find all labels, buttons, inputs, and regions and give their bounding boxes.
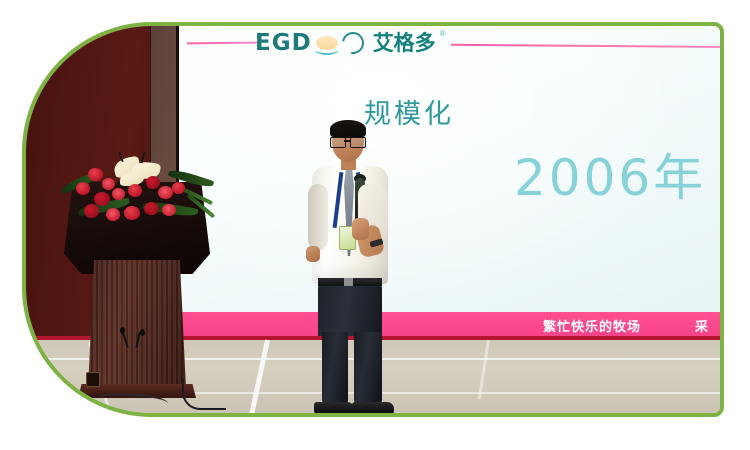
red-gerbera: [158, 186, 173, 199]
decorative-photo-frame: EGD 艾格多 ® 规模化 2006年 繁忙快乐的牧场 采: [22, 22, 724, 417]
presenter-left-hand: [306, 246, 320, 262]
logo-ring-icon: [337, 28, 368, 59]
logo-oval-icon: [316, 36, 338, 50]
presenter-leg: [354, 332, 382, 404]
belt-buckle: [344, 278, 353, 286]
presenter-left-arm: [308, 184, 328, 250]
presenter: [300, 118, 410, 417]
red-gerbera: [124, 206, 140, 220]
red-gerbera: [128, 184, 142, 197]
presenter-shoe: [314, 402, 354, 414]
podium-knob: [86, 372, 100, 387]
presenter-hair: [330, 120, 366, 138]
podium-body: [86, 260, 188, 388]
podium-microphone-tip: [140, 329, 145, 336]
presenter-leg: [322, 332, 348, 404]
presentation-photograph: EGD 艾格多 ® 规模化 2006年 繁忙快乐的牧场 采: [22, 22, 724, 417]
red-gerbera: [76, 182, 90, 195]
red-gerbera: [162, 204, 176, 216]
screenshot-root: EGD 艾格多 ® 规模化 2006年 繁忙快乐的牧场 采: [0, 0, 750, 450]
presenter-right-hand: [352, 218, 369, 240]
red-gerbera: [106, 208, 120, 221]
presenter-shoe: [352, 402, 394, 414]
red-gerbera: [88, 168, 103, 181]
trademark-symbol: ®: [440, 29, 446, 38]
lens-left: [330, 137, 346, 148]
slide-caption-text-secondary: 采: [695, 316, 708, 335]
floor-seam-diagonal: [242, 339, 270, 417]
podium-microphone-tip: [120, 327, 125, 334]
eyeglasses-icon: [330, 137, 367, 146]
projection-screen: EGD 艾格多 ® 规模化 2006年 繁忙快乐的牧场 采: [179, 22, 724, 340]
floor-seam-diagonal: [478, 340, 490, 400]
red-gerbera: [144, 202, 159, 215]
red-gerbera: [84, 204, 99, 218]
red-gerbera: [94, 192, 110, 206]
brand-wordmark: EGD: [255, 32, 312, 55]
slide-year-headline: 2006年: [514, 138, 706, 210]
slide-caption-text: 繁忙快乐的牧场: [543, 316, 641, 335]
podium-cable: [182, 378, 226, 410]
brand-chinese-name: 艾格多: [373, 33, 436, 54]
red-gerbera: [112, 188, 125, 200]
floral-arrangement: [58, 152, 218, 222]
lens-right: [350, 137, 366, 148]
red-gerbera: [102, 178, 115, 190]
red-gerbera: [146, 176, 160, 189]
presenter-hips: [318, 284, 382, 336]
red-gerbera: [172, 182, 185, 194]
brand-logo: EGD 艾格多 ®: [255, 28, 446, 58]
